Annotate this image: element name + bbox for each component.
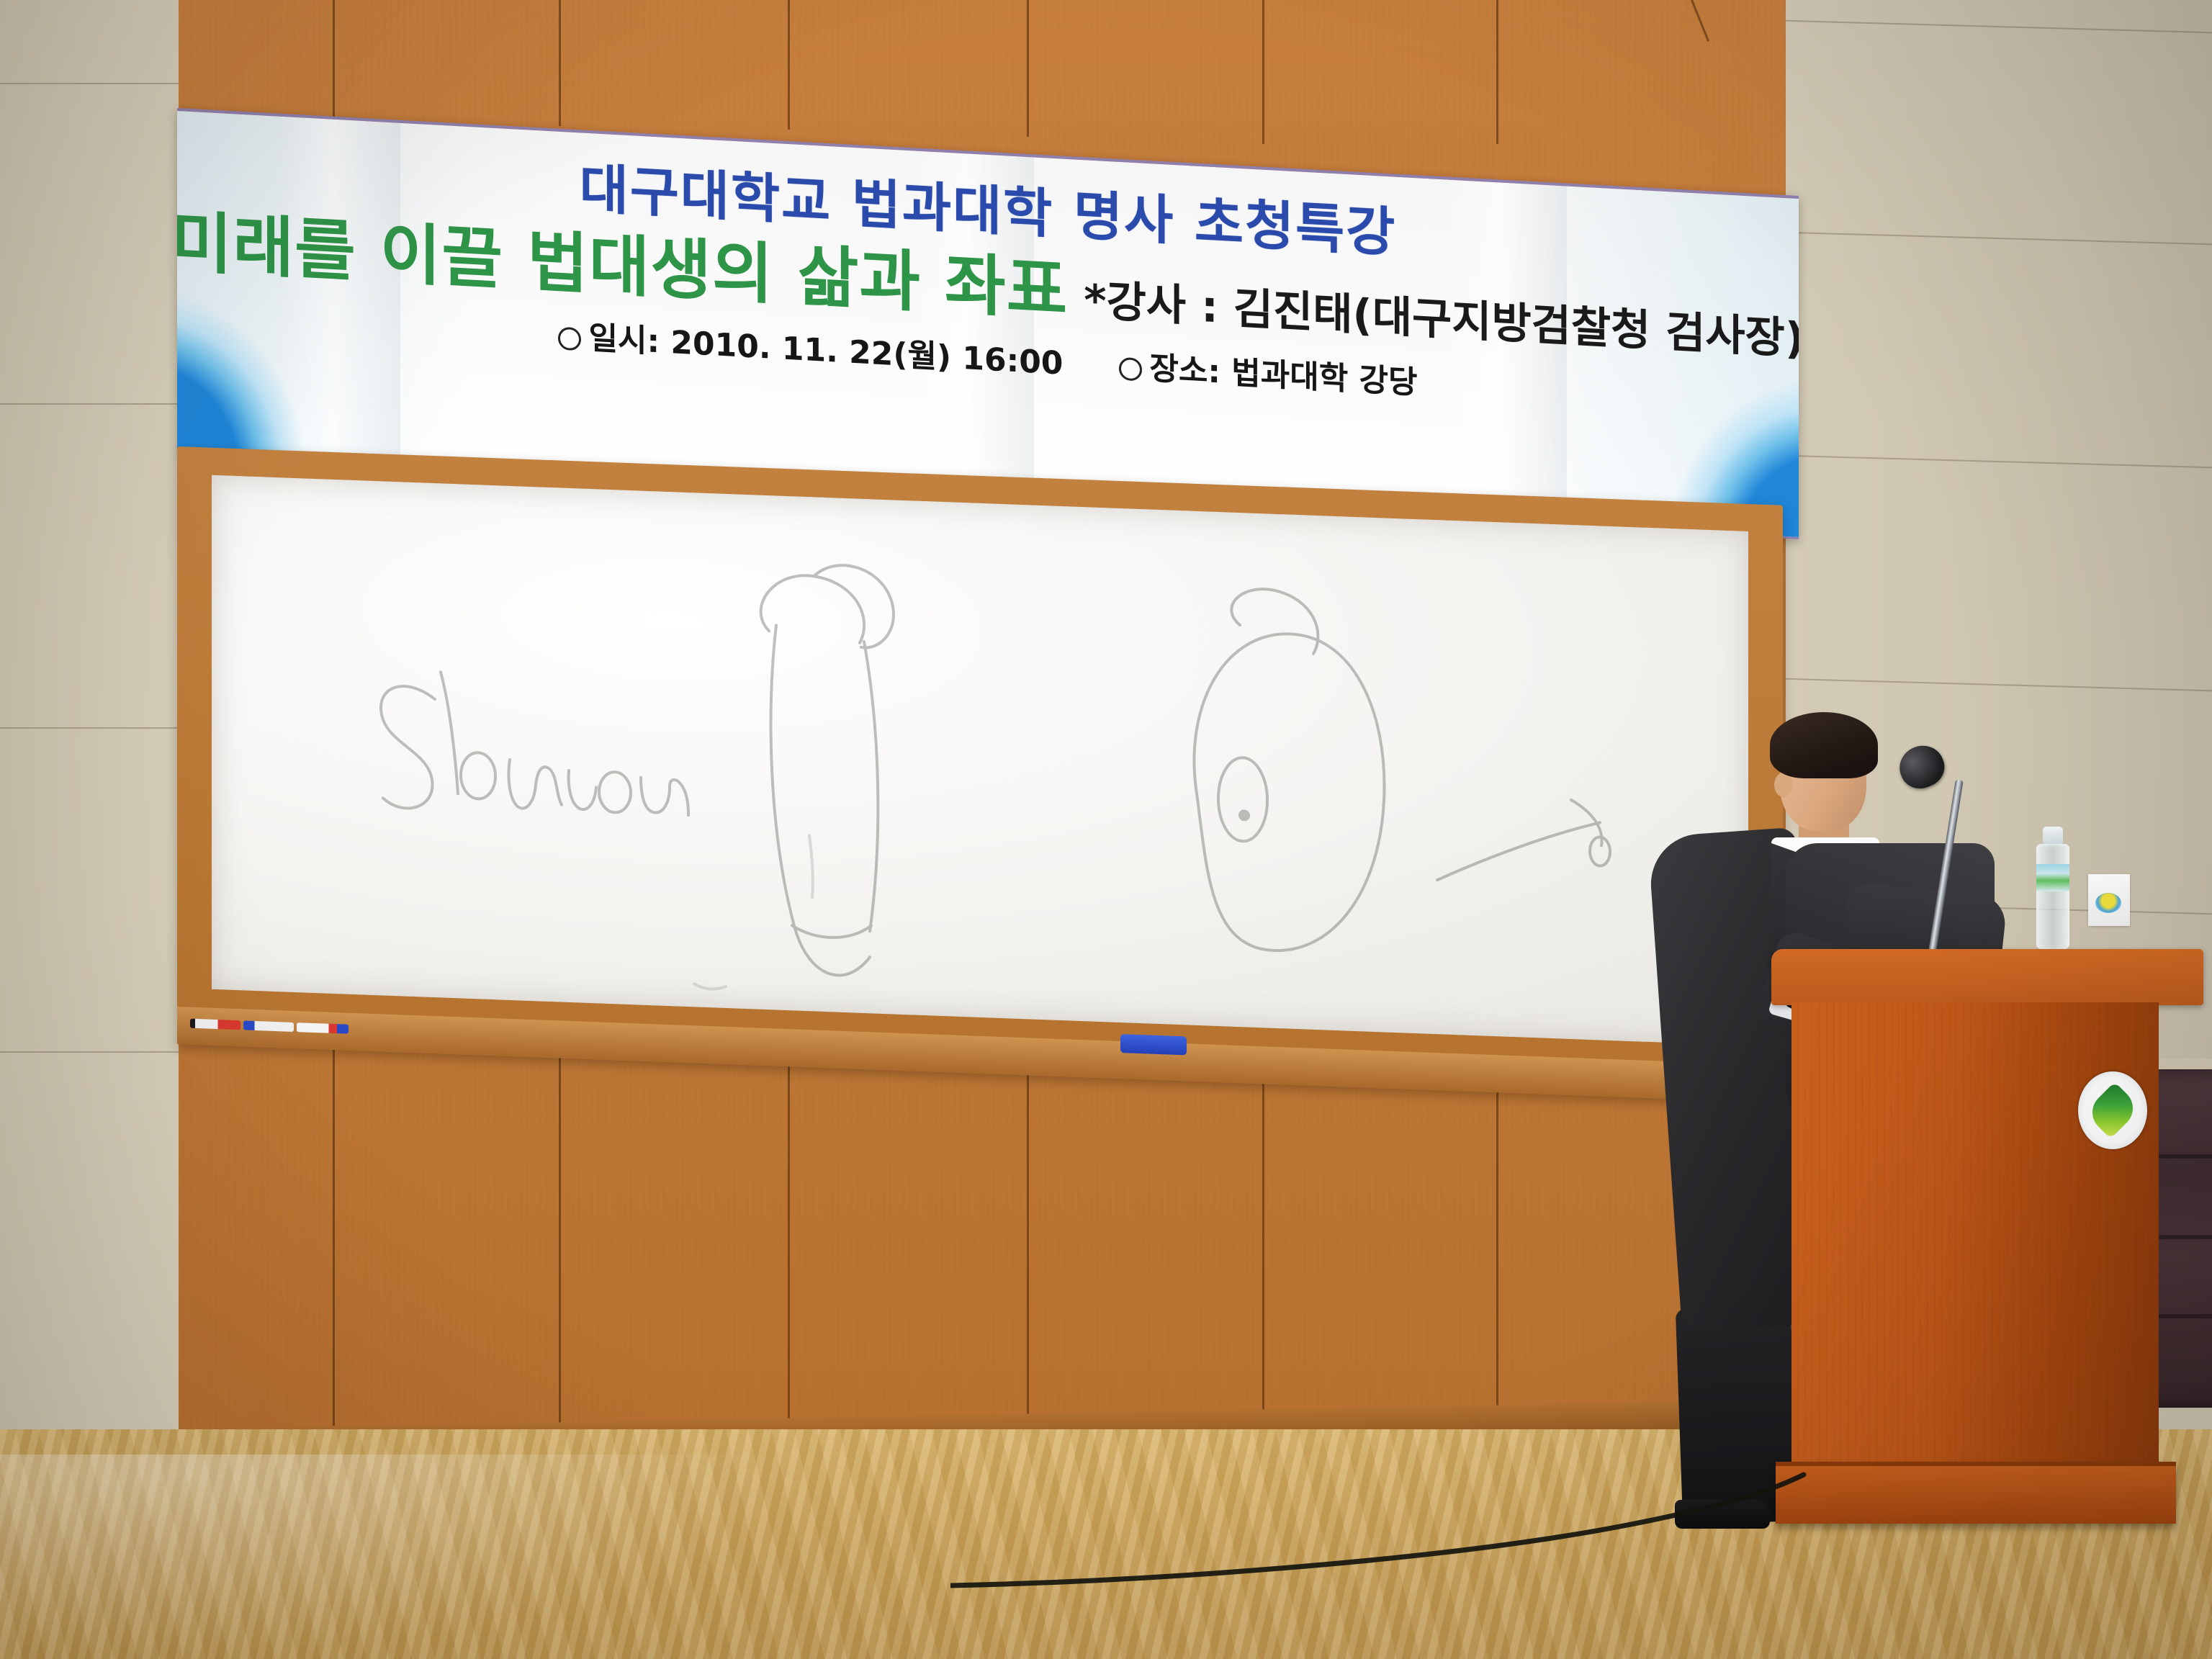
marker-red[interactable] bbox=[190, 1019, 240, 1030]
floor-reflection bbox=[0, 1455, 792, 1656]
whiteboard-surface[interactable] bbox=[212, 475, 1748, 1046]
left-beige-wall-panel bbox=[0, 0, 181, 1462]
banner-date-text: 일시: 2010. 11. 22(월) 16:00 bbox=[588, 320, 1063, 382]
cup-logo-icon bbox=[2095, 893, 2121, 913]
marker-blue[interactable] bbox=[243, 1020, 294, 1032]
podium-base bbox=[1776, 1462, 2176, 1524]
bottle-label bbox=[2036, 864, 2069, 891]
whiteboard-frame bbox=[177, 446, 1783, 1103]
bottle-cap bbox=[2043, 827, 2063, 845]
lecture-hall-photo: 대구대학교 법과대학 명사 초청특강 미래를 이끌 법대생의 삶과 좌표 *강사… bbox=[0, 0, 2212, 1659]
bullet-circle-icon bbox=[1119, 357, 1142, 382]
speaker-hair bbox=[1770, 712, 1878, 778]
bullet-circle-icon bbox=[558, 327, 581, 351]
banner-place-text: 장소: 법과대학 강당 bbox=[1149, 350, 1417, 401]
microphone-cable bbox=[950, 1469, 1815, 1591]
university-emblem-icon bbox=[2078, 1071, 2147, 1149]
whiteboard-handwriting bbox=[212, 475, 1748, 1046]
emblem-diamond-shape bbox=[2084, 1082, 2141, 1138]
podium bbox=[1771, 949, 2203, 1518]
marker-blue-eraser[interactable] bbox=[1120, 1034, 1187, 1055]
water-bottle[interactable] bbox=[2036, 827, 2069, 949]
bottle-body bbox=[2036, 844, 2069, 949]
podium-top-surface bbox=[1771, 949, 2203, 1005]
banner-place-item: 장소: 법과대학 강당 bbox=[1119, 341, 1417, 403]
podium-front-panel bbox=[1791, 1002, 2159, 1470]
paper-cup[interactable] bbox=[2088, 874, 2130, 926]
marker-white[interactable] bbox=[297, 1022, 349, 1034]
